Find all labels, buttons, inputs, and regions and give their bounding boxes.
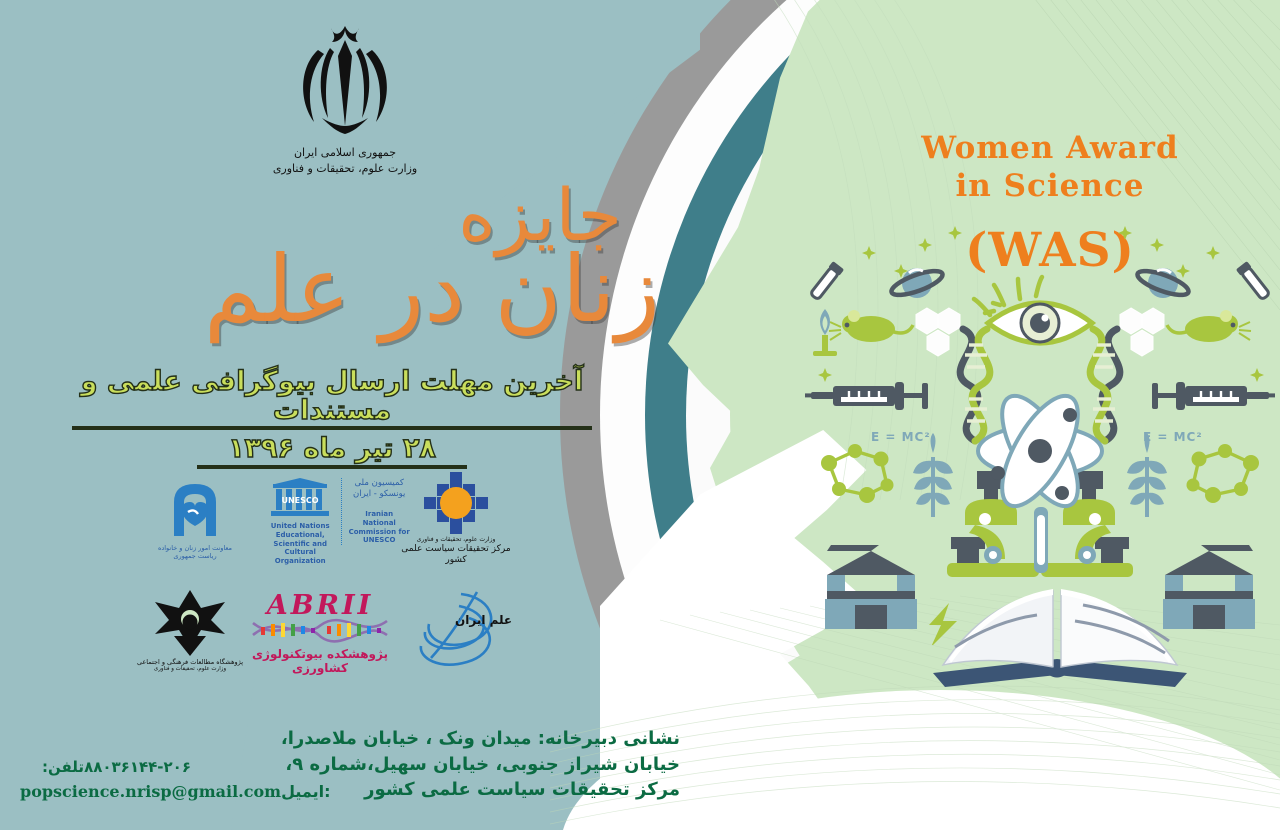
deadline-line2: ۲۸ تیر ماه ۱۳۹۶: [197, 435, 467, 469]
address-line1: نشانی دبیرخانه: میدان ونک ، خیابان ملاصد…: [281, 726, 680, 752]
test-tube-icon: [1236, 261, 1272, 301]
test-tube-icon: [808, 261, 844, 301]
honeycomb-cells-icon: [916, 308, 960, 356]
logo-icsscr: پژوهشگاه مطالعات فرهنگی و اجتماعی وزارت …: [135, 588, 245, 674]
persian-title-line2: زنان در علم: [60, 245, 660, 335]
honeycomb-cells-icon: [1120, 308, 1164, 356]
english-title-line1: Women Award: [840, 130, 1260, 168]
email-label: ایمیل:: [281, 782, 330, 801]
emblem-caption-line1: جمهوری اسلامی ایران: [215, 146, 475, 159]
heart-in-arch-icon: [164, 478, 226, 540]
wheat-plant-icon: [1127, 433, 1167, 517]
email-block: popscience.nrisp@gmail.comایمیل:: [20, 782, 331, 801]
phone-value: ۸۸۰۳۶۱۴۴-۲۰۶: [84, 758, 191, 776]
phone-block: ۸۸۰۳۶۱۴۴-۲۰۶تلفن:: [42, 758, 191, 776]
address-block: نشانی دبیرخانه: میدان ونک ، خیابان ملاصد…: [281, 726, 680, 803]
logo-caption-1: پژوهشکده بیوتکنولوژی کشاورزی: [250, 647, 390, 675]
emblem-caption-line2: وزارت علوم، تحقیقات و فناوری: [215, 162, 475, 175]
logo-nrisp: وزارت علوم، تحقیقات و فناوری مرکز تحقیقا…: [400, 470, 512, 567]
dna-helix-icon: [960, 329, 990, 441]
persian-title: جایزه زنان در علم: [60, 180, 660, 335]
address-line3: مرکز تحقیقات سیاست علمی کشور: [281, 777, 680, 803]
logo-caption-1: وزارت علوم، تحقیقات و فناوری: [400, 536, 512, 544]
blue-swirl-icon: انجمن ترویج علم ایران: [403, 588, 513, 674]
black-star-figure-icon: [151, 588, 229, 658]
logo-ispa: انجمن ترویج علم ایران: [398, 588, 518, 678]
deadline-line1: آخرین مهلت ارسال بیوگرافی علمی و مستندات: [72, 368, 592, 430]
syringe-icon: [805, 382, 928, 410]
open-book-icon: [925, 555, 1195, 715]
lab-building-icon: [825, 545, 917, 629]
address-line2: خیابان شیراز جنوبی، خیابان سهیل،شماره ۹،: [281, 752, 680, 778]
logo-abrii: ABRII پژوهشکده بیوتکنولوژی کشاورزی: [250, 592, 390, 675]
email-value[interactable]: popscience.nrisp@gmail.com: [20, 782, 281, 801]
blue-star-sun-icon: [420, 470, 492, 536]
molecule-icon: [1187, 444, 1260, 503]
dna-strand-icon: [251, 613, 389, 647]
poster-canvas: جمهوری اسلامی ایران وزارت علوم، تحقیقات …: [0, 0, 1280, 830]
iran-emblem-block: جمهوری اسلامی ایران وزارت علوم، تحقیقات …: [215, 22, 475, 175]
emc2-label-right: E = MC²: [1143, 430, 1203, 444]
english-title-line2: in Science: [840, 168, 1260, 206]
molecule-icon: [821, 444, 894, 503]
logo-caption-1: پژوهشگاه مطالعات فرهنگی و اجتماعی: [135, 658, 245, 666]
eye-icon: [974, 277, 1092, 343]
dna-helix-icon: [1090, 329, 1120, 441]
logo-vice-presidency-women: معاونت امور زنان و خانواده ریاست جمهوری: [145, 478, 245, 561]
deadline-banner: آخرین مهلت ارسال بیوگرافی علمی و مستندات…: [72, 368, 592, 469]
emc2-label-left: E = MC²: [871, 430, 931, 444]
syringe-icon: [1152, 382, 1275, 410]
logo-caption-2: وزارت علوم، تحقیقات و فناوری: [135, 666, 245, 673]
logo-unesco: UNESCO United Nations Educational, Scien…: [265, 478, 410, 566]
ispa-caption: انجمن ترویج علم ایران: [455, 613, 513, 628]
lab-mouse-icon: [1167, 310, 1251, 342]
logo-caption: معاونت امور زنان و خانواده: [145, 544, 245, 552]
bunsen-burner-icon: [813, 309, 837, 356]
lab-mouse-icon: [829, 310, 913, 342]
unesco-temple-icon: UNESCO: [271, 478, 329, 518]
logo-caption-2: مرکز تحقیقات سیاست علمی کشور: [400, 544, 512, 567]
logo-caption-2: ریاست جمهوری: [145, 552, 245, 560]
iran-emblem-icon: [270, 22, 420, 142]
logo-caption-en: United Nations Educational, Scientific a…: [265, 522, 335, 566]
svg-text:UNESCO: UNESCO: [282, 496, 319, 505]
wheat-plant-icon: [913, 433, 953, 517]
phone-label: تلفن:: [42, 758, 84, 776]
